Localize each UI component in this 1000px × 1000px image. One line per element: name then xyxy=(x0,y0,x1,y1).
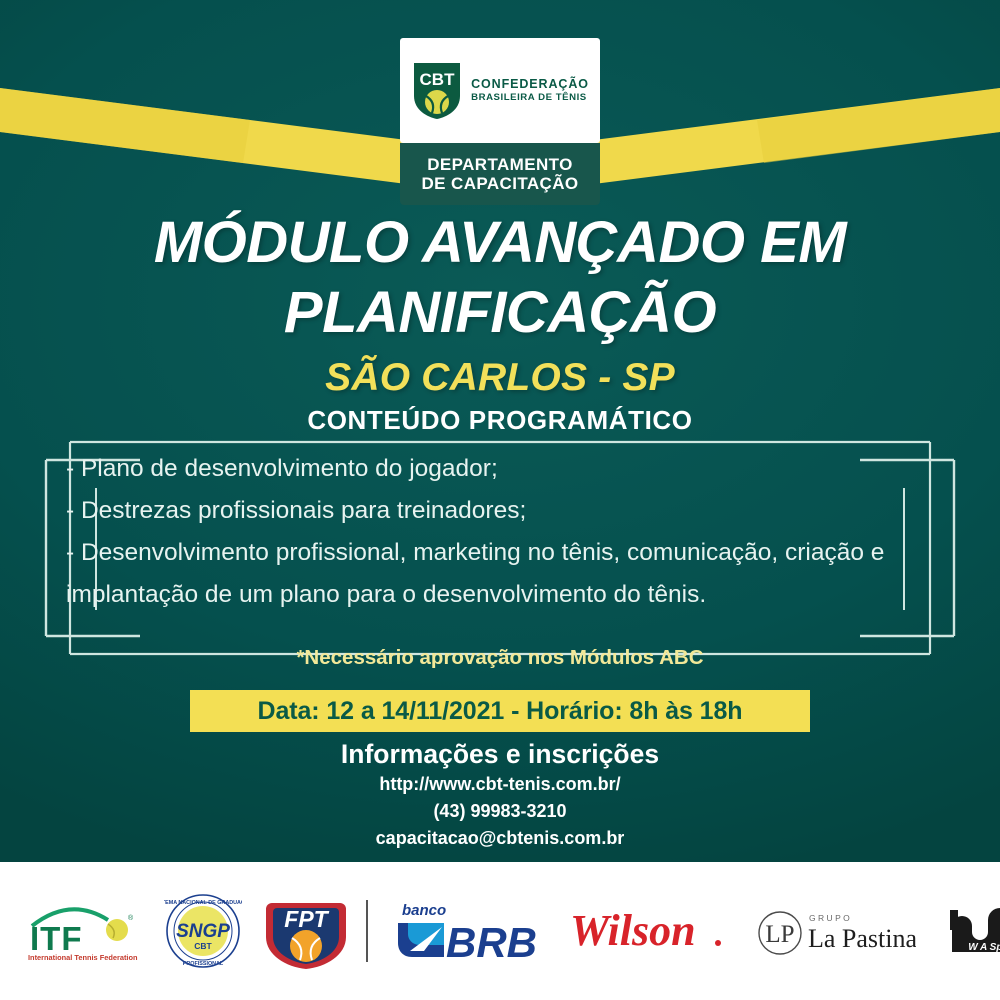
svg-text:W A Sport: W A Sport xyxy=(968,942,1000,953)
wa-sport-logo: W A Sport xyxy=(944,900,1000,962)
wilson-logo: Wilson xyxy=(566,903,726,959)
list-item: - Plano de desenvolvimento do jogador; xyxy=(66,448,926,490)
svg-text:PROFISSIONAL: PROFISSIONAL xyxy=(183,961,224,967)
cbt-tennis-shield-icon: CBT xyxy=(411,60,463,122)
prerequisite-note: *Necessário aprovação nos Módulos ABC xyxy=(0,646,1000,670)
date-time-text: Data: 12 a 14/11/2021 - Horário: 8h às 1… xyxy=(258,697,743,726)
contact-email[interactable]: capacitacao@cbtenis.com.br xyxy=(0,825,1000,852)
banco-brb-logo: banco BRB xyxy=(388,895,538,967)
la-pastina-logo: LP GRUPO La Pastina xyxy=(754,899,916,963)
title-line1: MÓDULO AVANÇADO EM xyxy=(154,210,846,275)
svg-text:ITF: ITF xyxy=(30,920,82,957)
footer-divider xyxy=(366,900,368,962)
sponsor-group-right: banco BRB Wilson xyxy=(388,895,1000,967)
fpt-logo: FPT xyxy=(264,891,348,971)
list-item: - Desenvolvimento profissional, marketin… xyxy=(66,532,926,616)
svg-text:International Tennis Federatio: International Tennis Federation xyxy=(28,953,138,962)
cbt-logo-card: CBT CONFEDERAÇÃO BRASILEIRA DE TÊNIS xyxy=(400,38,600,143)
title-block: MÓDULO AVANÇADO EM PLANIFICAÇÃO SÃO CARL… xyxy=(0,214,1000,400)
svg-text:SISTEMA NACIONAL DE GRADUAÇÃO: SISTEMA NACIONAL DE GRADUAÇÃO xyxy=(164,899,242,906)
cbt-name-line2: BRASILEIRA DE TÊNIS xyxy=(471,93,589,103)
program-list: - Plano de desenvolvimento do jogador; -… xyxy=(66,448,926,616)
contact-phone[interactable]: (43) 99983-3210 xyxy=(0,798,1000,825)
svg-text:CBT: CBT xyxy=(420,70,456,89)
svg-text:CBT: CBT xyxy=(194,941,212,951)
date-time-banner: Data: 12 a 14/11/2021 - Horário: 8h às 1… xyxy=(190,690,810,732)
svg-text:BRB: BRB xyxy=(446,919,537,966)
contact-heading: Informações e inscrições xyxy=(0,738,1000,771)
svg-text:SNGP: SNGP xyxy=(176,921,230,942)
department-line1: DEPARTAMENTO xyxy=(427,155,573,174)
svg-text:LP: LP xyxy=(765,921,794,948)
svg-text:La Pastina: La Pastina xyxy=(808,924,916,953)
department-banner: DEPARTAMENTO DE CAPACITAÇÃO xyxy=(400,143,600,205)
svg-text:banco: banco xyxy=(402,902,446,919)
program-heading: CONTEÚDO PROGRAMÁTICO xyxy=(0,405,1000,436)
list-item: - Destrezas profissionais para treinador… xyxy=(66,490,926,532)
cbt-name-line1: CONFEDERAÇÃO xyxy=(471,78,589,91)
department-line2: DE CAPACITAÇÃO xyxy=(421,174,578,193)
contact-block: Informações e inscrições http://www.cbt-… xyxy=(0,738,1000,852)
title-line2: PLANIFICAÇÃO xyxy=(0,284,1000,342)
itf-logo: ITF ® International Tennis Federation xyxy=(24,898,142,964)
page-title: MÓDULO AVANÇADO EM PLANIFICAÇÃO xyxy=(0,214,1000,342)
sngp-logo: SNGP CBT SISTEMA NACIONAL DE GRADUAÇÃO P… xyxy=(164,892,242,970)
title-city: SÃO CARLOS - SP xyxy=(0,356,1000,400)
svg-text:®: ® xyxy=(128,914,134,922)
sponsor-footer: ITF ® International Tennis Federation SN… xyxy=(0,862,1000,1000)
contact-website[interactable]: http://www.cbt-tenis.com.br/ xyxy=(0,771,1000,798)
svg-text:GRUPO: GRUPO xyxy=(809,913,852,923)
svg-text:FPT: FPT xyxy=(284,906,329,932)
sponsor-group-left: ITF ® International Tennis Federation SN… xyxy=(24,891,348,971)
poster-root: CBT CONFEDERAÇÃO BRASILEIRA DE TÊNIS DEP… xyxy=(0,0,1000,1000)
svg-text:Wilson: Wilson xyxy=(570,906,696,955)
